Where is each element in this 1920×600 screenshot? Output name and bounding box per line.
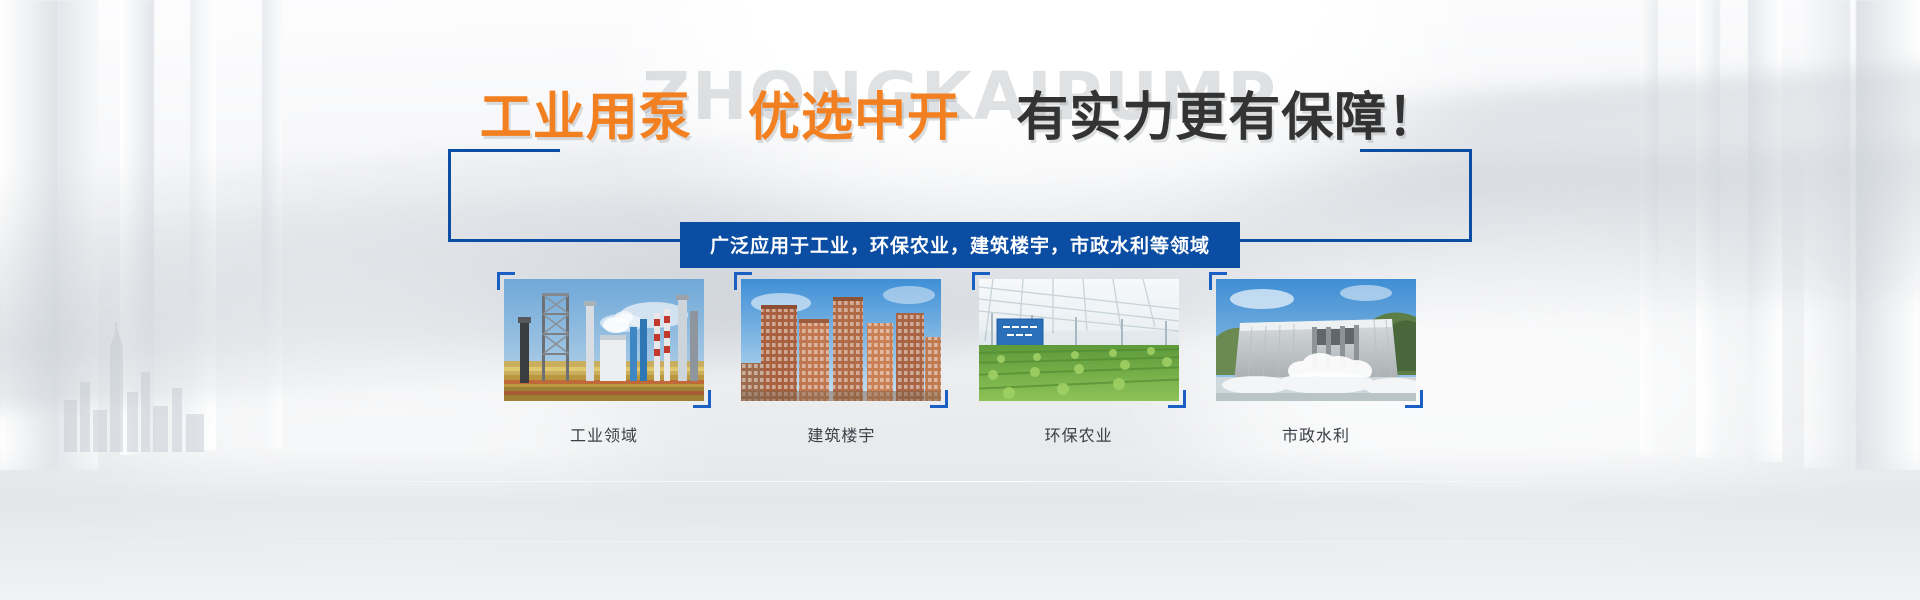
card-label: 环保农业 <box>972 422 1186 446</box>
card-industrial[interactable]: 工业领域 <box>497 272 711 446</box>
floor-reflection <box>0 450 1920 600</box>
subtitle-banner: 广泛应用于工业，环保农业，建筑楼宇，市政水利等领域 <box>680 222 1240 268</box>
card-image-dam <box>1216 279 1416 401</box>
headline-part-2: 优选中开 <box>748 88 960 148</box>
card-label: 建筑楼宇 <box>734 422 948 446</box>
floor-line <box>0 541 1920 542</box>
banner-stage: ZHONGKAIPUMP 工业用泵 优选中开 有实力更有保障！ 广泛应用于工业，… <box>0 0 1920 600</box>
headline-part-3: 有实力更有保障！ <box>1016 88 1440 148</box>
card-buildings[interactable]: 建筑楼宇 <box>734 272 948 446</box>
card-label: 工业领域 <box>497 422 711 446</box>
card-image-agriculture <box>979 279 1179 401</box>
thumb-wrap <box>497 272 711 408</box>
card-image-buildings <box>741 279 941 401</box>
application-cards: 工业领域 <box>497 272 1423 446</box>
card-label: 市政水利 <box>1209 422 1423 446</box>
thumb-wrap <box>1209 272 1423 408</box>
thumb-wrap <box>734 272 948 408</box>
floor-line <box>0 481 1920 482</box>
card-image-industrial <box>504 279 704 401</box>
city-skyline-silhouette <box>60 322 210 452</box>
card-agriculture[interactable]: 环保农业 <box>972 272 1186 446</box>
thumb-wrap <box>972 272 1186 408</box>
headline: 工业用泵 优选中开 有实力更有保障！ <box>0 92 1920 144</box>
card-water-conservancy[interactable]: 市政水利 <box>1209 272 1423 446</box>
headline-part-1: 工业用泵 <box>480 88 692 148</box>
